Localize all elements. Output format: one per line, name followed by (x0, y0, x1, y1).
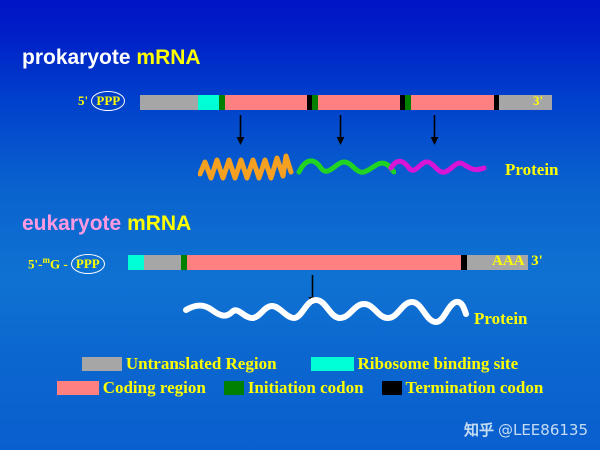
eukaryote-protein-label: Protein (474, 309, 528, 329)
prokaryote-title-mrna: mRNA (136, 46, 200, 69)
legend-swatch (82, 357, 122, 371)
prokaryote-3prime-label: 3' (533, 93, 543, 109)
slide-canvas: prokaryote mRNA 5' PPP 3' Protein eukary… (0, 0, 600, 450)
prokaryote-protein-label: Protein (505, 160, 559, 180)
legend-row-top: Untranslated RegionRibosome binding site (0, 352, 600, 376)
eukaryote-polya-label: AAA 3' (492, 253, 543, 270)
eukaryote-5prime-text: 5'- (28, 256, 42, 271)
eukaryote-cap-superscript: m (42, 255, 50, 265)
translation-arrow (335, 115, 346, 150)
eukaryote-ppp-cap: PPP (71, 256, 105, 272)
prokaryote-protein-magenta (388, 152, 488, 182)
translation-arrow (429, 115, 440, 150)
legend-label: Termination codon (406, 378, 544, 398)
segment-ribosome-binding-site (198, 95, 219, 110)
legend-swatch (382, 381, 402, 395)
eukaryote-polya-text: AAA (492, 253, 524, 269)
prokaryote-5prime-text: 5' (78, 93, 88, 108)
legend-item: Untranslated Region (82, 354, 277, 374)
legend-label: Coding region (103, 378, 206, 398)
legend-row-bottom: Coding regionInitiation codonTermination… (0, 376, 600, 400)
watermark-logo: 知乎 (464, 421, 494, 439)
eukaryote-5prime-cap-label: 5'-mG - PPP (28, 255, 105, 272)
translation-arrow (235, 115, 246, 150)
legend-item: Initiation codon (224, 378, 364, 398)
eukaryote-title-word: eukaryote (22, 212, 121, 235)
legend-item: Ribosome binding site (311, 354, 519, 374)
prokaryote-ppp-text: PPP (96, 93, 120, 108)
watermark-handle: @LEE86135 (498, 421, 588, 439)
eukaryote-cap-base: G - (50, 256, 68, 271)
legend-label: Ribosome binding site (358, 354, 519, 374)
eukaryote-title: eukaryote mRNA (22, 212, 191, 236)
segment-coding-region (411, 95, 494, 110)
legend-label: Initiation codon (248, 378, 364, 398)
prokaryote-protein-orange (198, 148, 298, 184)
segment-untranslated-region (499, 95, 552, 110)
eukaryote-title-mrna: mRNA (127, 212, 191, 235)
segment-untranslated-region (144, 255, 181, 270)
watermark: 知乎@LEE86135 (464, 419, 588, 440)
eukaryote-mrna-bar (128, 255, 528, 270)
eukaryote-ppp-text: PPP (76, 256, 100, 271)
segment-coding-region (318, 95, 400, 110)
segment-untranslated-region (140, 95, 198, 110)
legend: Untranslated RegionRibosome binding site… (0, 352, 600, 400)
prokaryote-protein-green (296, 152, 396, 182)
segment-coding-region (187, 255, 461, 270)
legend-swatch (224, 381, 244, 395)
legend-swatch (57, 381, 99, 395)
legend-label: Untranslated Region (126, 354, 277, 374)
legend-item: Termination codon (382, 378, 544, 398)
segment-ribosome-binding-site (128, 255, 144, 270)
prokaryote-mrna-bar (140, 95, 552, 110)
eukaryote-protein-white (182, 288, 472, 330)
prokaryote-title: prokaryote mRNA (22, 46, 201, 70)
legend-swatch (311, 357, 354, 371)
eukaryote-3prime-text: 3' (531, 253, 543, 269)
legend-item: Coding region (57, 378, 206, 398)
prokaryote-title-word: prokaryote (22, 46, 131, 69)
prokaryote-ppp-cap: PPP (91, 93, 125, 109)
prokaryote-5prime-label: 5' PPP (78, 93, 125, 109)
segment-coding-region (225, 95, 307, 110)
